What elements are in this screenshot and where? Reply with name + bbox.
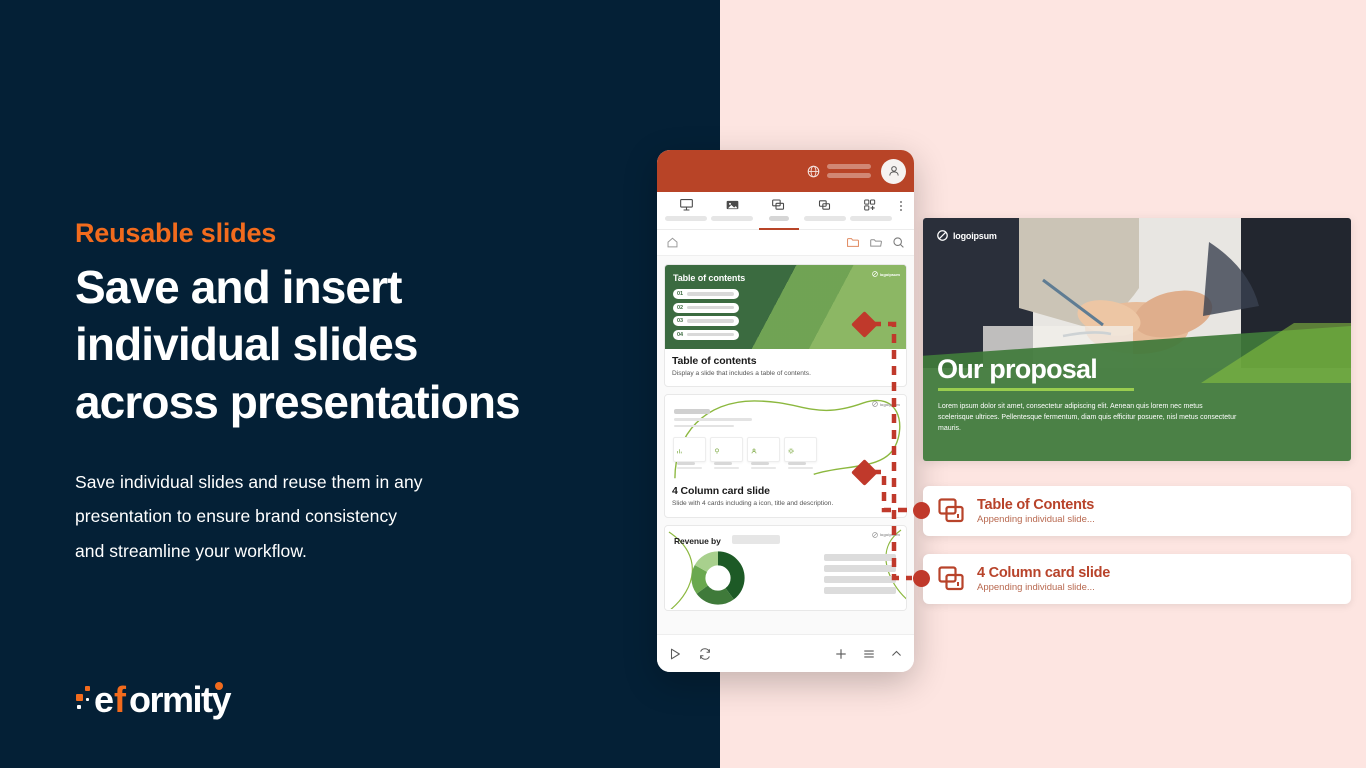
toolbar-label-placeholder (711, 216, 753, 221)
slide-title: Table of contents (672, 355, 899, 367)
toc-row: 03 (673, 316, 739, 326)
toolbar-item-presentation[interactable] (663, 197, 709, 225)
donut-chart (679, 550, 757, 606)
preview-slide: logoipsum Our proposal Lorem ipsum dolor… (923, 218, 1351, 461)
toolbar-item-copy-slide[interactable] (802, 197, 848, 225)
toc-row-placeholder (687, 292, 734, 296)
card-title-bar (677, 462, 695, 465)
card-desc-bar (751, 467, 776, 469)
app-breadcrumb-bar (657, 230, 914, 256)
subcopy-line-3: and streamline your workflow. (75, 534, 645, 568)
toolbar-item-individual-slides[interactable] (755, 197, 801, 225)
toc-row-placeholder (687, 333, 734, 337)
notification-card-table-of-contents[interactable]: Table of Contents Appending individual s… (923, 486, 1351, 536)
toc-row-number: 04 (677, 332, 683, 338)
notification-title: 4 Column card slide (977, 565, 1110, 581)
card-title-bar (751, 462, 769, 465)
toc-row-placeholder (687, 319, 734, 323)
kebab-dot (900, 209, 902, 211)
toolbar-item-image-slide[interactable] (709, 197, 755, 225)
legend-bar (824, 587, 896, 594)
thumb-card-row (673, 437, 817, 462)
chevron-up-icon[interactable] (890, 647, 903, 660)
header-bar-2 (827, 173, 871, 178)
toc-row-placeholder (687, 306, 734, 310)
thumb-logo: logoipsum (872, 532, 900, 538)
slide-description: Slide with 4 cards including a icon, tit… (672, 499, 899, 508)
thumb-logo: logoipsum (872, 401, 900, 407)
slide-logo: logoipsum (937, 230, 997, 241)
slide-title: 4 Column card slide (672, 485, 899, 497)
card-desc-bar (788, 467, 813, 469)
subcopy-line-1: Save individual slides and reuse them in… (75, 465, 645, 499)
headline-line-2: individual slides (75, 316, 645, 373)
toc-row: 02 (673, 303, 739, 313)
lightbulb-icon (714, 448, 720, 454)
header-bar-1 (827, 164, 871, 169)
hero-subcopy: Save individual slides and reuse them in… (75, 465, 645, 568)
slide-heading-underline (938, 388, 1134, 392)
thumb-card (673, 437, 706, 462)
avatar-person-icon (887, 164, 901, 178)
home-icon[interactable] (666, 236, 679, 249)
svg-text:f: f (114, 679, 127, 720)
app-toolbar (657, 192, 914, 230)
slide-thumbnail-revenue: logoipsum Revenue by (665, 526, 906, 610)
card-desc-bar (714, 467, 739, 469)
toolbar-label-placeholder (665, 216, 707, 221)
slide-library-item-4-column-card[interactable]: logoipsum (664, 394, 907, 517)
thumb-title-placeholder (732, 535, 780, 544)
notification-text: Table of Contents Appending individual s… (977, 497, 1095, 525)
hero-headline: Save and insert individual slides across… (75, 259, 645, 431)
hero-copy: Reusable slides Save and insert individu… (75, 218, 645, 568)
toolbar-label-placeholder (804, 216, 846, 221)
logoipsum-icon (937, 230, 948, 241)
notification-card-4-column-card-slide[interactable]: 4 Column card slide Appending individual… (923, 554, 1351, 604)
subheading-bar (674, 418, 752, 421)
kebab-menu-icon[interactable] (894, 197, 908, 211)
headline-line-1: Save and insert (75, 259, 645, 316)
sync-icon[interactable] (698, 647, 712, 661)
app-window-header (657, 150, 914, 192)
settings-icon (788, 448, 794, 454)
header-placeholder-bars (827, 164, 871, 178)
slide-description: Display a slide that includes a table of… (672, 369, 899, 378)
thumb-heading-placeholder (674, 409, 752, 427)
toc-row-number: 01 (677, 291, 683, 297)
toc-row: 04 (673, 330, 739, 340)
card-title-bar (714, 462, 732, 465)
toc-row-number: 03 (677, 318, 683, 324)
image-slide-icon (725, 197, 740, 212)
toolbar-label-placeholder (850, 216, 892, 221)
eformity-logo: e f ormity (74, 676, 284, 724)
slide-caption: Table of contents Display a slide that i… (665, 349, 906, 386)
eformity-logo-icon: e f ormity (74, 676, 284, 724)
hamburger-menu-icon[interactable] (862, 647, 876, 661)
connector-dot-table-of-contents (913, 502, 930, 519)
toc-row-number: 02 (677, 305, 683, 311)
duplicate-slides-icon (771, 197, 786, 212)
svg-text:e: e (94, 679, 113, 720)
slide-body-text: Lorem ipsum dolor sit amet, consectetur … (938, 402, 1238, 435)
play-icon[interactable] (668, 647, 682, 661)
duplicate-slides-icon (937, 497, 965, 525)
open-folder-icon[interactable] (846, 236, 860, 249)
notification-subtitle: Appending individual slide... (977, 582, 1110, 593)
notification-text: 4 Column card slide Appending individual… (977, 565, 1110, 593)
toc-row: 01 (673, 289, 739, 299)
app-footer-toolbar (657, 634, 914, 672)
slide-caption: 4 Column card slide Slide with 4 cards i… (665, 479, 906, 516)
duplicate-slides-icon (937, 565, 965, 593)
toolbar-item-add-template[interactable] (848, 197, 894, 225)
footer-right-actions (834, 647, 903, 661)
thumb-title: Revenue by (674, 536, 721, 546)
card-desc-bar (677, 467, 702, 469)
chart-icon (677, 448, 683, 454)
subcopy-line-2: presentation to ensure brand consistency (75, 499, 645, 533)
slide-logo-text: logoipsum (953, 231, 997, 241)
thumb-logo: logoipsum (872, 271, 900, 277)
hero-eyebrow: Reusable slides (75, 218, 645, 249)
notification-title: Table of Contents (977, 497, 1095, 513)
notification-subtitle: Appending individual slide... (977, 514, 1095, 525)
folder-icon[interactable] (869, 236, 883, 249)
subheading-bar (674, 425, 734, 428)
globe-icon[interactable] (807, 165, 820, 178)
thumb-toc-rows: 01 02 03 04 (673, 289, 739, 343)
slide-heading: Our proposal (937, 354, 1097, 385)
add-template-icon (863, 197, 878, 212)
connector-dot-4-column (913, 570, 930, 587)
breadcrumb-actions (846, 236, 905, 249)
card-title-bar (788, 462, 806, 465)
thumb-card (784, 437, 817, 462)
kebab-dot (900, 205, 902, 207)
search-icon[interactable] (892, 236, 905, 249)
presentation-screen-icon (679, 197, 694, 212)
thumb-legend-bars (824, 554, 896, 598)
thumb-card (747, 437, 780, 462)
user-avatar-icon[interactable] (881, 159, 906, 184)
thumb-card (710, 437, 743, 462)
slide-thumbnail-table-of-contents: logoipsum Table of contents 01 02 03 (665, 265, 906, 349)
headline-line-3: across presentations (75, 374, 645, 431)
slide-library-item-revenue[interactable]: logoipsum Revenue by (664, 525, 907, 611)
heading-bar (674, 409, 710, 414)
people-icon (751, 448, 757, 454)
kebab-dot (900, 201, 902, 203)
thumb-title: Table of contents (673, 273, 745, 283)
slide-library-list[interactable]: logoipsum Table of contents 01 02 03 (657, 256, 914, 660)
eformity-app-window[interactable]: logoipsum Table of contents 01 02 03 (657, 150, 914, 672)
toolbar-label-placeholder-active (769, 216, 789, 221)
copy-slide-icon (817, 197, 832, 212)
legend-bar (824, 576, 896, 583)
plus-icon[interactable] (834, 647, 848, 661)
legend-bar (824, 565, 896, 572)
legend-bar (824, 554, 896, 561)
footer-left-actions (668, 647, 712, 661)
